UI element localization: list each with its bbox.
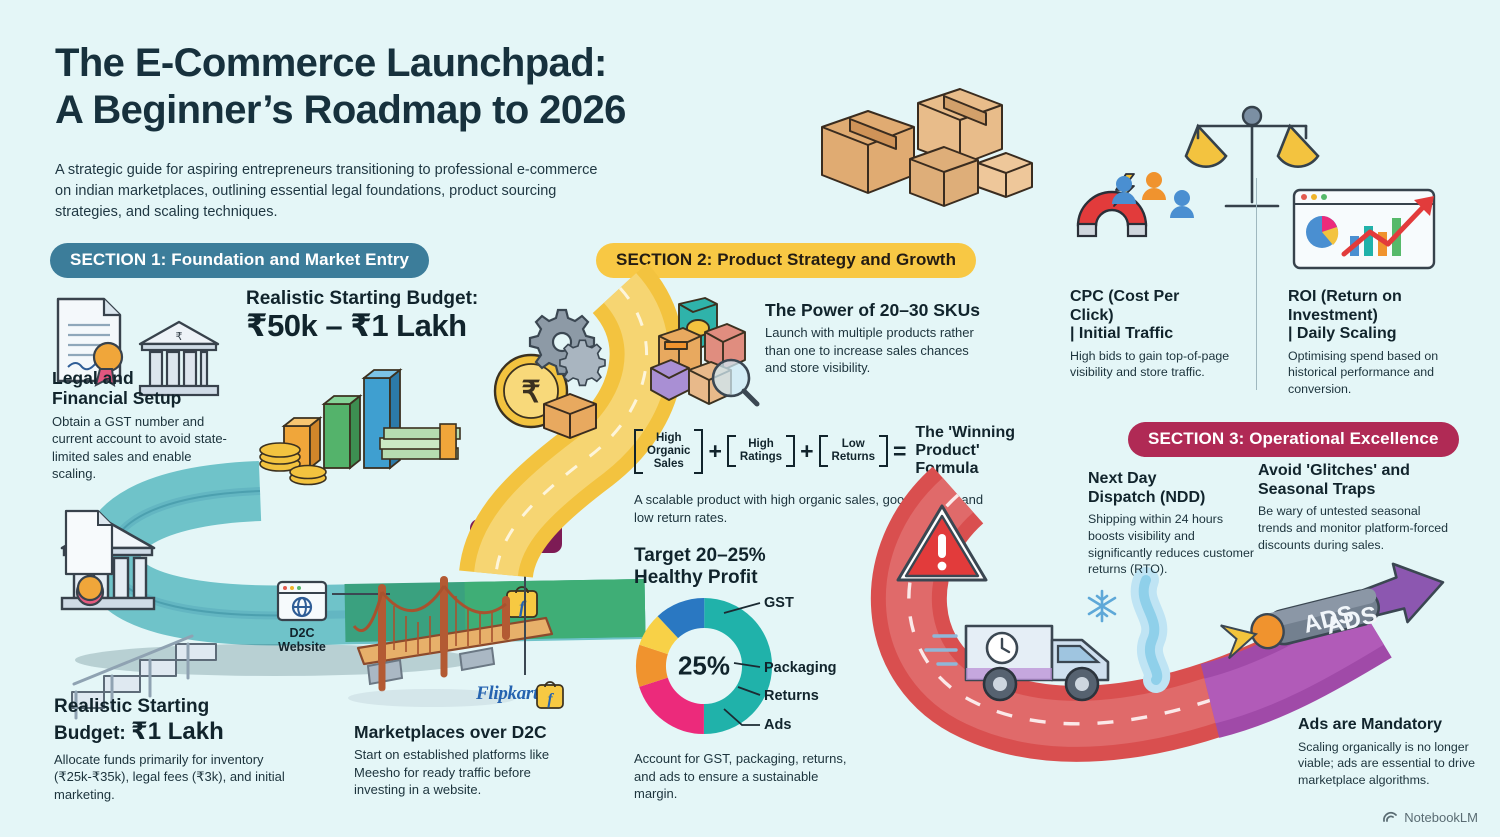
budget-bottom-heading: Realistic Starting Budget: ₹1 Lakh xyxy=(54,696,294,746)
ndd-body: Shipping within 24 hours boosts visibili… xyxy=(1088,511,1260,578)
roi-heading: ROI (Return on Investment) | Daily Scali… xyxy=(1288,288,1474,344)
delivery-van-icon xyxy=(956,606,1124,716)
skus-body: Launch with multiple products rather tha… xyxy=(765,324,990,377)
package-box-icon xyxy=(540,388,600,442)
budget-bottom-heading-line1: Realistic Starting xyxy=(54,696,294,718)
glitches-body: Be wary of untested seasonal trends and … xyxy=(1258,503,1458,553)
money-growth-illustration xyxy=(262,360,492,490)
formula-term1-line2: Organic xyxy=(647,445,690,458)
page-title-line1: The E-Commerce Launchpad: xyxy=(55,40,815,87)
formula-term1-line1: High xyxy=(647,432,690,445)
warning-triangle-icon xyxy=(894,500,990,588)
roi-heading-line2: Investment) xyxy=(1288,307,1474,326)
cpc-body: High bids to gain top-of-page visibility… xyxy=(1070,348,1240,381)
notebooklm-label: NotebookLM xyxy=(1404,810,1478,825)
starting-budget-label: Realistic Starting Budget: xyxy=(246,288,478,310)
page-title-line2: A Beginner’s Roadmap to 2026 xyxy=(55,87,815,134)
section-1-badge: SECTION 1: Foundation and Market Entry xyxy=(50,243,429,278)
analytics-dashboard-icon xyxy=(1292,188,1452,272)
donut-leader-lines xyxy=(716,601,776,741)
budget-bottom-body: Allocate funds primarily for inventory (… xyxy=(54,751,294,804)
formula-term-high-ratings: High Ratings xyxy=(727,435,795,467)
roi-heading-line1: ROI (Return on xyxy=(1288,288,1474,307)
ads-mandatory-heading: Ads are Mandatory xyxy=(1298,716,1490,735)
section-1-badge-label: SECTION 1: Foundation and Market Entry xyxy=(50,243,429,278)
formula-result-line1: The 'Winning xyxy=(915,424,1015,442)
ndd-block: Next Day Dispatch (NDD) Shipping within … xyxy=(1088,470,1260,578)
ndd-heading-line2: Dispatch (NDD) xyxy=(1088,489,1260,508)
cardboard-boxes-illustration xyxy=(810,75,1040,215)
budget-bottom-prefix: Budget: xyxy=(54,723,131,744)
flipkart-wordmark: Flipkart xyxy=(476,683,538,704)
profit-body: Account for GST, packaging, returns, and… xyxy=(634,750,849,803)
legal-body: Obtain a GST number and current account … xyxy=(52,413,230,483)
profit-heading-text: Target 20–25% Healthy Profit xyxy=(634,545,766,589)
d2c-website-icon xyxy=(276,580,328,624)
legal-heading: Legal and Financial Setup xyxy=(52,368,230,409)
section-3-badge: SECTION 3: Operational Excellence xyxy=(1128,422,1459,457)
formula-term3-line2: Returns xyxy=(832,451,875,464)
notebooklm-watermark: NotebookLM xyxy=(1382,809,1478,825)
section-3-badge-label: SECTION 3: Operational Excellence xyxy=(1128,422,1459,457)
formula-term1-line3: Sales xyxy=(647,458,690,471)
formula-term-low-returns: Low Returns xyxy=(819,435,888,467)
ndd-heading-line1: Next Day xyxy=(1088,470,1260,489)
legal-heading-line1: Legal and xyxy=(52,368,230,388)
d2c-website-label: D2C Website xyxy=(270,626,334,655)
profit-heading-line1: Target 20–25% xyxy=(634,545,766,567)
cpc-roi-divider xyxy=(1256,178,1257,390)
budget-bottom-block: Realistic Starting Budget: ₹1 Lakh Alloc… xyxy=(54,696,294,804)
legal-document-icon-2 xyxy=(62,508,116,578)
d2c-label-line2: Website xyxy=(270,640,334,654)
skus-block: The Power of 20–30 SKUs Launch with mult… xyxy=(765,300,990,377)
glitches-heading-line2: Seasonal Traps xyxy=(1258,481,1458,500)
notebooklm-icon xyxy=(1382,809,1398,825)
flipkart-logo: Flipkart xyxy=(476,683,538,705)
product-variety-illustration xyxy=(645,290,763,408)
marketplaces-heading: Marketplaces over D2C xyxy=(354,722,579,742)
formula-term3-line1: Low xyxy=(832,438,875,451)
customer-avatars-icon xyxy=(1110,172,1196,222)
formula-term-organic-sales: High Organic Sales xyxy=(634,429,703,474)
skus-heading: The Power of 20–30 SKUs xyxy=(765,300,990,320)
marketplaces-block: Marketplaces over D2C Start on establish… xyxy=(354,722,579,799)
glitches-block: Avoid 'Glitches' and Seasonal Traps Be w… xyxy=(1258,462,1458,553)
cpc-heading: CPC (Cost Per Click) | Initial Traffic xyxy=(1070,288,1240,344)
page-title: The E-Commerce Launchpad: A Beginner’s R… xyxy=(55,40,815,134)
cpc-heading-line1: CPC (Cost Per xyxy=(1070,288,1240,307)
infographic-canvas: The E-Commerce Launchpad: A Beginner’s R… xyxy=(0,0,1500,837)
legal-block: Legal and Financial Setup Obtain a GST n… xyxy=(52,368,230,483)
gears-icon xyxy=(522,302,620,400)
budget-bottom-value: ₹1 Lakh xyxy=(131,718,224,745)
d2c-label-line1: D2C xyxy=(270,626,334,640)
formula-term2-line2: Ratings xyxy=(740,451,782,464)
glitches-heading-line1: Avoid 'Glitches' and xyxy=(1258,462,1458,481)
river-illustration xyxy=(1122,580,1212,680)
legal-heading-line2: Financial Setup xyxy=(52,388,230,408)
ads-mandatory-block: Ads are Mandatory Scaling organically is… xyxy=(1298,716,1490,789)
cpc-heading-line3: | Initial Traffic xyxy=(1070,325,1240,344)
ads-mandatory-body: Scaling organically is no longer viable;… xyxy=(1298,739,1490,789)
profit-heading-line2: Healthy Profit xyxy=(634,567,766,589)
cpc-heading-line2: Click) xyxy=(1070,307,1240,326)
budget-bottom-heading-line2: Budget: ₹1 Lakh xyxy=(54,718,294,746)
ndd-heading: Next Day Dispatch (NDD) xyxy=(1088,470,1260,507)
roi-body: Optimising spend based on historical per… xyxy=(1288,348,1474,398)
starting-budget-value: ₹50k – ₹1 Lakh xyxy=(246,310,478,343)
formula-plus-2: + xyxy=(800,438,813,465)
glitches-heading: Avoid 'Glitches' and Seasonal Traps xyxy=(1258,462,1458,499)
profit-heading: Target 20–25% Healthy Profit xyxy=(634,545,766,589)
starting-budget-callout: Realistic Starting Budget: ₹50k – ₹1 Lak… xyxy=(246,288,478,342)
formula-plus-1: + xyxy=(708,438,721,465)
cpc-block: CPC (Cost Per Click) | Initial Traffic H… xyxy=(1070,288,1240,381)
formula-term2-line1: High xyxy=(740,438,782,451)
marketplaces-body: Start on established platforms like Mees… xyxy=(354,746,579,799)
page-subtitle: A strategic guide for aspiring entrepren… xyxy=(55,160,615,223)
roi-heading-line3: | Daily Scaling xyxy=(1288,325,1474,344)
roi-block: ROI (Return on Investment) | Daily Scali… xyxy=(1288,288,1474,398)
flipkart-bag-icon-2: f xyxy=(535,678,565,710)
svg-text:₹: ₹ xyxy=(176,331,183,343)
